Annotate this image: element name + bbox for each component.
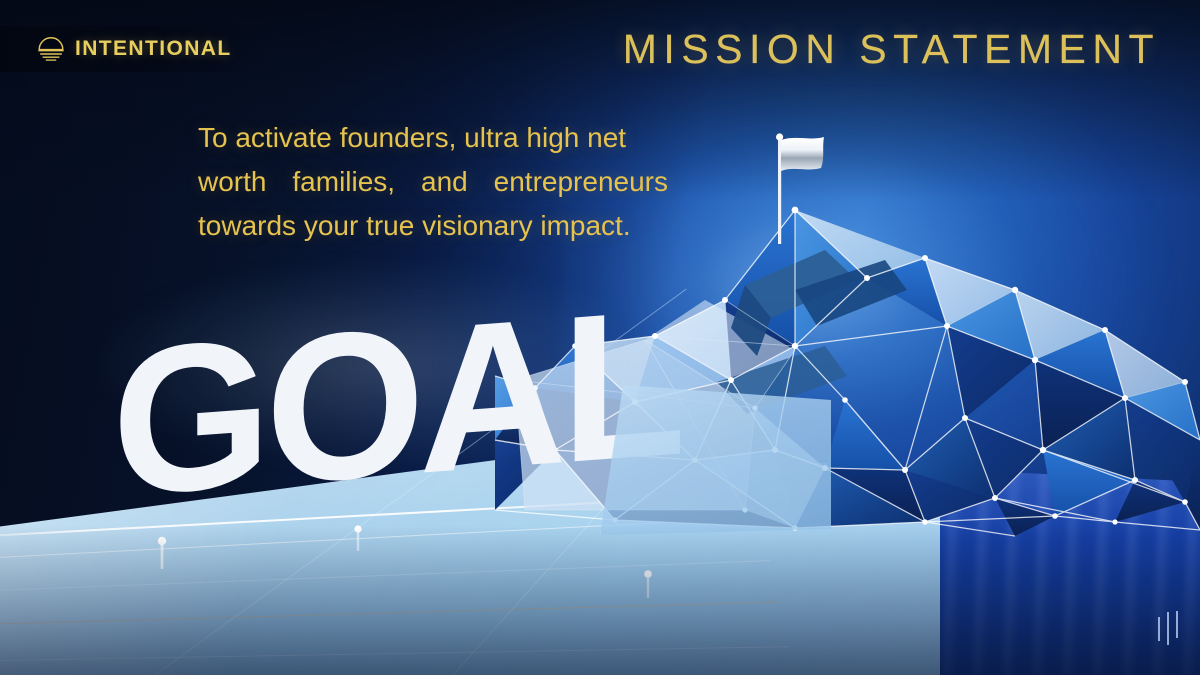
sunset-horizon-circle-icon <box>36 34 66 64</box>
glass-panel-overlay <box>600 385 831 535</box>
mission-line-1: To activate founders, ultra high net <box>198 116 668 160</box>
mission-statement-text: To activate founders, ultra high net wor… <box>198 116 668 248</box>
goal-3d-headline: GOAL <box>112 300 632 530</box>
brand-logo[interactable]: INTENTIONAL <box>36 34 232 64</box>
flag-on-pole-icon <box>762 132 852 252</box>
goal-3d-text: GOAL <box>112 277 680 528</box>
mission-statement-slide: GOAL INTENTIONAL MISSION STATEMENT To ac… <box>0 0 1200 675</box>
mission-line-2: worth families, and entrepreneurs <box>198 160 668 204</box>
page-title: MISSION STATEMENT <box>623 26 1160 73</box>
three-bars-mark-icon <box>1158 611 1178 645</box>
mission-line-3: towards your true visionary impact. <box>198 204 668 248</box>
corner-bar-1 <box>1158 617 1160 641</box>
corner-bar-2 <box>1167 612 1169 645</box>
brand-name: INTENTIONAL <box>75 37 232 61</box>
bottom-vignette <box>0 525 1200 675</box>
corner-bar-3 <box>1176 611 1178 638</box>
